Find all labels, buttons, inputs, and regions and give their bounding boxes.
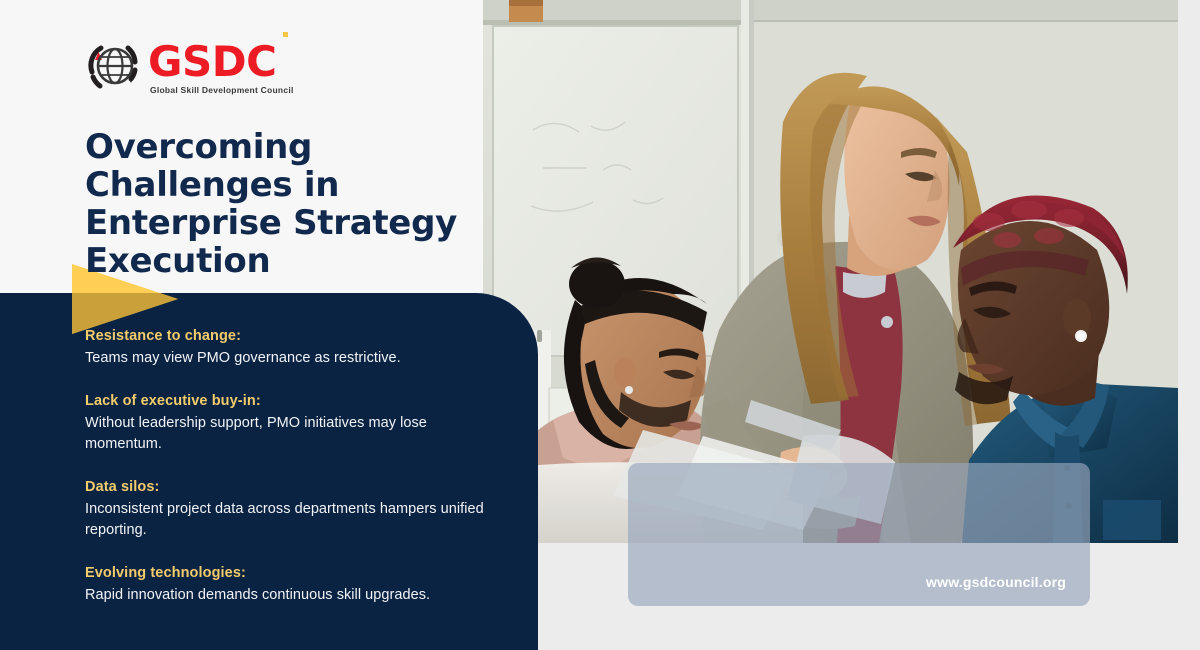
website-url[interactable]: www.gsdcouncil.org — [926, 574, 1090, 606]
list-item-heading: Lack of executive buy-in: — [85, 392, 505, 411]
list-item-body: Rapid innovation demands continuous skil… — [85, 585, 505, 606]
list-item-body: Inconsistent project data across departm… — [85, 499, 505, 541]
gsdc-logo: GSDC Global Skill Development Council — [86, 38, 294, 95]
list-item-heading: Evolving technologies: — [85, 564, 505, 583]
logo-wordmark: GSDC — [148, 41, 294, 83]
list-item: Lack of executive buy-in: Without leader… — [85, 392, 505, 455]
globe-icon — [86, 38, 144, 94]
list-item-body: Without leadership support, PMO initiati… — [85, 413, 505, 455]
challenges-list: Resistance to change: Teams may view PMO… — [85, 327, 505, 606]
list-item: Evolving technologies: Rapid innovation … — [85, 564, 505, 606]
gold-dot-accent — [283, 32, 288, 37]
logo-tagline: Global Skill Development Council — [148, 85, 294, 95]
list-item: Data silos: Inconsistent project data ac… — [85, 478, 505, 541]
page-title: Overcoming Challenges in Enterprise Stra… — [85, 128, 475, 280]
list-item: Resistance to change: Teams may view PMO… — [85, 327, 505, 369]
list-item-heading: Resistance to change: — [85, 327, 505, 346]
team-collaboration-photo — [483, 0, 1178, 543]
list-item-body: Teams may view PMO governance as restric… — [85, 348, 505, 369]
poster-canvas: GSDC Global Skill Development Council Ov… — [0, 0, 1200, 650]
list-item-heading: Data silos: — [85, 478, 505, 497]
website-overlay-panel: www.gsdcouncil.org — [628, 463, 1090, 606]
